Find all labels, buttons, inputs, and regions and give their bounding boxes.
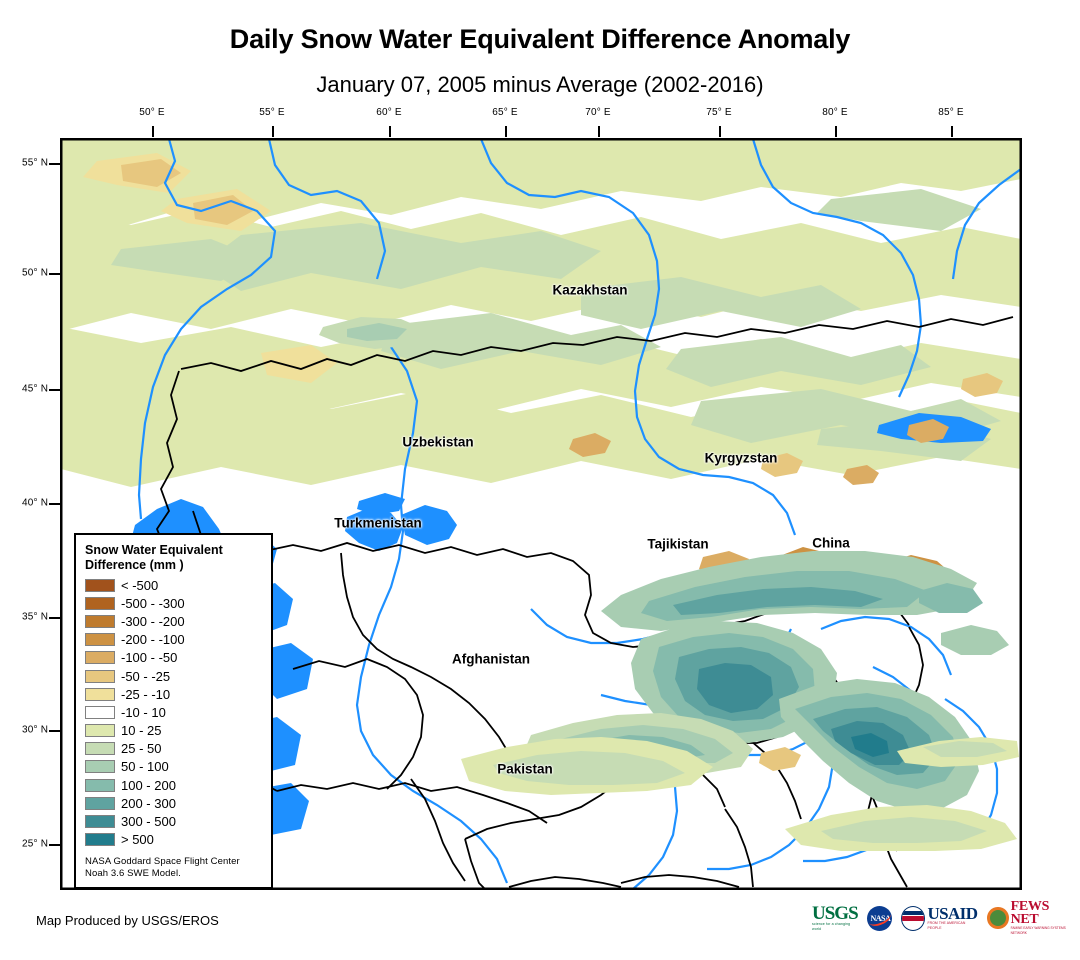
legend-swatch [85, 651, 115, 664]
country-label-tajikistan: Tajikistan [647, 537, 708, 552]
legend-label: 50 - 100 [121, 760, 169, 773]
usaid-logo: USAID FROM THE AMERICAN PEOPLE [901, 903, 978, 933]
legend-row: -200 - -100 [85, 631, 271, 649]
legend-row: -500 - -300 [85, 594, 271, 612]
longitude-label: 70° E [585, 107, 611, 118]
map-page: Daily Snow Water Equivalent Difference A… [0, 0, 1080, 960]
latitude-label: 50° N [22, 268, 48, 279]
latitude-tick [49, 503, 60, 505]
country-label-kyrgyzstan: Kyrgyzstan [705, 451, 778, 466]
country-label-turkmenistan: Turkmenistan [334, 516, 422, 531]
longitude-tick [505, 126, 507, 137]
legend-row: -10 - 10 [85, 703, 271, 721]
legend-label: 25 - 50 [121, 742, 161, 755]
latitude-label: 55° N [22, 158, 48, 169]
legend-label: -200 - -100 [121, 633, 185, 646]
latitude-tick [49, 730, 60, 732]
fews-globe-icon [987, 907, 1008, 929]
longitude-tick [389, 126, 391, 137]
longitude-label: 55° E [259, 107, 285, 118]
fews-logo-text: FEWS NET [1011, 900, 1080, 926]
legend-row: 10 - 25 [85, 722, 271, 740]
longitude-tick [835, 126, 837, 137]
longitude-label: 75° E [706, 107, 732, 118]
legend-row: < -500 [85, 576, 271, 594]
legend-label: -500 - -300 [121, 597, 185, 610]
nasa-meatball-icon: NASA [867, 906, 892, 931]
legend-source-note: NASA Goddard Space Flight Center Noah 3.… [85, 856, 240, 880]
usgs-logo: USGS science for a changing world [812, 903, 858, 933]
legend-row: 25 - 50 [85, 740, 271, 758]
fews-net-logo: FEWS NET FAMINE EARLY WARNING SYSTEMS NE… [987, 903, 1080, 933]
latitude-tick [49, 617, 60, 619]
longitude-label: 60° E [376, 107, 402, 118]
legend-title: Snow Water Equivalent Difference (mm ) [85, 543, 265, 573]
longitude-label: 85° E [938, 107, 964, 118]
legend-label: -100 - -50 [121, 651, 177, 664]
longitude-label: 50° E [139, 107, 165, 118]
usaid-logo-tagline: FROM THE AMERICAN PEOPLE [927, 921, 978, 931]
legend-label: 200 - 300 [121, 797, 176, 810]
legend-swatch [85, 724, 115, 737]
legend-label: -300 - -200 [121, 615, 185, 628]
latitude-tick [49, 163, 60, 165]
legend-label: 10 - 25 [121, 724, 161, 737]
country-label-kazakhstan: Kazakhstan [552, 283, 627, 298]
legend-row: > 500 [85, 831, 271, 849]
legend-row: 50 - 100 [85, 758, 271, 776]
map-credit: Map Produced by USGS/EROS [36, 913, 219, 928]
legend-swatch [85, 706, 115, 719]
longitude-label: 80° E [822, 107, 848, 118]
legend-swatch [85, 633, 115, 646]
country-label-china: China [812, 536, 850, 551]
country-label-uzbekistan: Uzbekistan [402, 435, 473, 450]
legend-swatch [85, 833, 115, 846]
legend-source-line1: NASA Goddard Space Flight Center [85, 856, 240, 868]
map-legend: Snow Water Equivalent Difference (mm ) <… [74, 533, 273, 889]
legend-row: -50 - -25 [85, 667, 271, 685]
legend-swatch [85, 597, 115, 610]
legend-label: 100 - 200 [121, 779, 176, 792]
usaid-logo-text: USAID [927, 906, 978, 921]
legend-swatch [85, 797, 115, 810]
legend-title-line1: Snow Water Equivalent [85, 543, 265, 558]
latitude-label: 45° N [22, 384, 48, 395]
latitude-tick [49, 273, 60, 275]
nasa-logo: NASA [867, 903, 892, 933]
latitude-tick [49, 844, 60, 846]
legend-label: -25 - -10 [121, 688, 170, 701]
page-title: Daily Snow Water Equivalent Difference A… [0, 24, 1080, 55]
legend-row: 100 - 200 [85, 776, 271, 794]
legend-label: -10 - 10 [121, 706, 166, 719]
legend-row: -100 - -50 [85, 649, 271, 667]
nasa-swoosh-icon [867, 908, 892, 929]
latitude-label: 25° N [22, 839, 48, 850]
legend-row: -300 - -200 [85, 612, 271, 630]
legend-label: 300 - 500 [121, 815, 176, 828]
map-frame[interactable]: KazakhstanUzbekistanTurkmenistanKyrgyzst… [60, 138, 1022, 890]
legend-swatch [85, 688, 115, 701]
legend-title-line2: Difference (mm ) [85, 558, 265, 573]
legend-label: < -500 [121, 579, 158, 592]
legend-row: 300 - 500 [85, 812, 271, 830]
legend-row: 200 - 300 [85, 794, 271, 812]
legend-row: -25 - -10 [85, 685, 271, 703]
legend-swatch [85, 615, 115, 628]
usgs-logo-text: USGS [812, 905, 858, 922]
longitude-tick [272, 126, 274, 137]
legend-swatch [85, 670, 115, 683]
legend-source-line2: Noah 3.6 SWE Model. [85, 868, 240, 880]
fews-logo-tagline: FAMINE EARLY WARNING SYSTEMS NETWORK [1011, 926, 1080, 936]
latitude-label: 30° N [22, 725, 48, 736]
legend-label: -50 - -25 [121, 670, 170, 683]
longitude-tick [719, 126, 721, 137]
agency-logos: USGS science for a changing world NASA U… [812, 902, 1080, 934]
legend-swatch [85, 742, 115, 755]
longitude-tick [598, 126, 600, 137]
country-label-pakistan: Pakistan [497, 762, 553, 777]
page-subtitle: January 07, 2005 minus Average (2002-201… [0, 72, 1080, 98]
legend-swatch [85, 815, 115, 828]
legend-swatch [85, 579, 115, 592]
longitude-tick [951, 126, 953, 137]
legend-swatch [85, 760, 115, 773]
legend-swatch [85, 779, 115, 792]
longitude-label: 65° E [492, 107, 518, 118]
country-label-afghanistan: Afghanistan [452, 652, 530, 667]
legend-label: > 500 [121, 833, 154, 846]
usgs-logo-tagline: science for a changing world [812, 922, 858, 932]
usaid-seal-icon [901, 906, 925, 931]
latitude-label: 40° N [22, 498, 48, 509]
latitude-label: 35° N [22, 612, 48, 623]
legend-class-list: < -500-500 - -300-300 - -200-200 - -100-… [85, 576, 271, 849]
latitude-tick [49, 389, 60, 391]
longitude-tick [152, 126, 154, 137]
